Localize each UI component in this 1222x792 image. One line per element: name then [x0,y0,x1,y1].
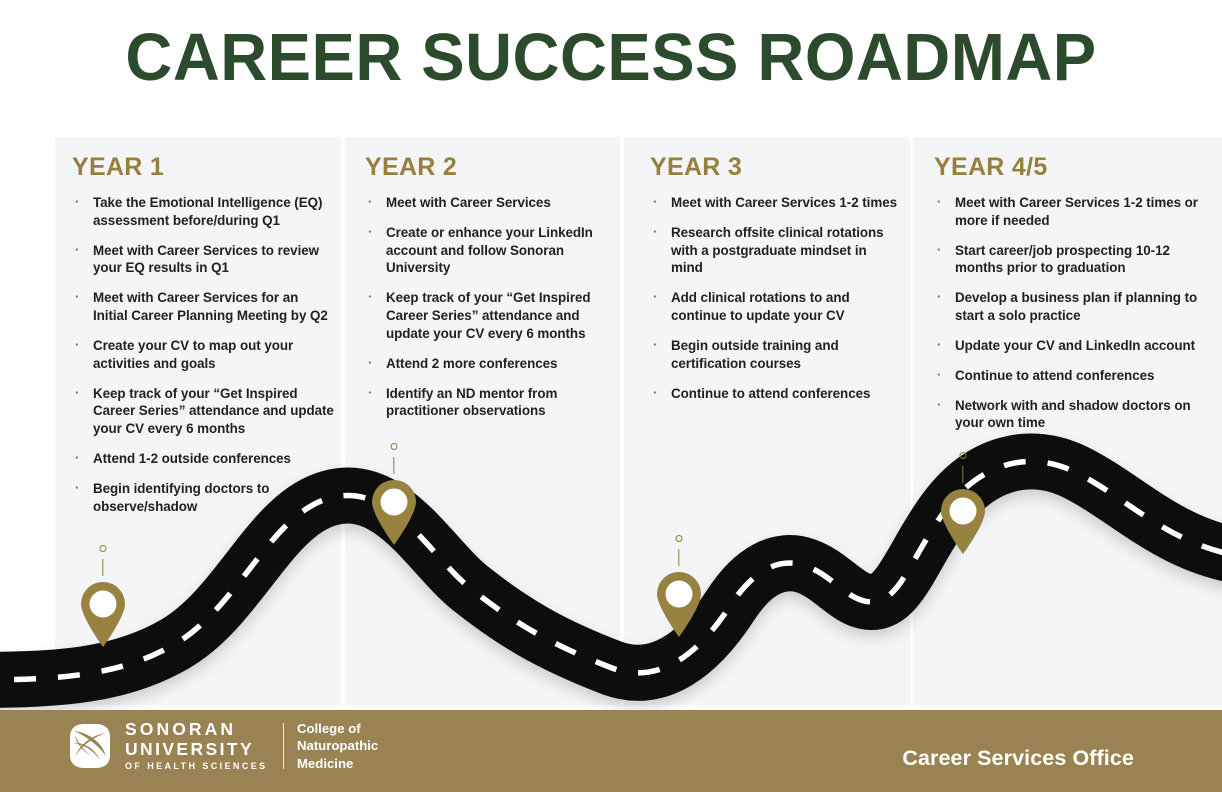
bullet-text: Meet with Career Services for an Initial… [93,290,328,323]
logo-line-sonoran: SONORAN [125,720,268,740]
bullet-item: ·Continue to attend conferences [934,367,1202,385]
pin-stem-icon [393,457,394,474]
bullet-dot-icon: · [937,336,941,353]
column-year-1: YEAR 1 ·Take the Emotional Intelligence … [72,155,334,528]
column-heading-year-2: YEAR 2 [365,155,605,180]
bullet-text: Begin outside training and certification… [671,338,839,371]
bullet-dot-icon: · [653,336,657,353]
bullet-dot-icon: · [75,336,79,353]
bullet-item: ·Meet with Career Services 1-2 times or … [934,194,1202,230]
bullet-dot-icon: · [75,241,79,258]
bullet-list-year-4-5: ·Meet with Career Services 1-2 times or … [934,194,1202,432]
column-year-2: YEAR 2 ·Meet with Career Services·Create… [365,155,605,432]
bullet-text: Meet with Career Services to review your… [93,243,319,276]
logo-line-health-sciences: OF HEALTH SCIENCES [125,760,268,773]
bullet-text: Develop a business plan if planning to s… [955,290,1197,323]
bullet-text: Network with and shadow doctors on your … [955,398,1191,431]
page-title: CAREER SUCCESS ROADMAP [18,24,1203,91]
bullet-dot-icon: · [368,223,372,240]
map-pin-year-1 [80,545,126,655]
bullet-dot-icon: · [368,384,372,401]
footer-department-label: Career Services Office [902,746,1134,771]
bullet-dot-icon: · [368,354,372,371]
column-year-4-5: YEAR 4/5 ·Meet with Career Services 1-2 … [934,155,1202,444]
bullet-item: ·Network with and shadow doctors on your… [934,397,1202,433]
bullet-list-year-2: ·Meet with Career Services·Create or enh… [365,194,605,420]
pin-top-dot-icon [960,452,967,459]
bullet-item: ·Begin identifying doctors to observe/sh… [72,480,334,516]
bullet-item: ·Continue to attend conferences [650,385,900,403]
bullet-item: ·Meet with Career Services 1-2 times [650,194,900,212]
pin-top-dot-icon [100,545,107,552]
bullet-list-year-3: ·Meet with Career Services 1-2 times·Res… [650,194,900,402]
college-name: College of Naturopathic Medicine [297,720,378,772]
bullet-item: ·Keep track of your “Get Inspired Career… [365,289,605,342]
college-line-3: Medicine [297,755,378,772]
bullet-dot-icon: · [75,384,79,401]
bullet-text: Attend 1-2 outside conferences [93,451,291,466]
bullet-text: Keep track of your “Get Inspired Career … [386,290,591,341]
bullet-item: ·Create your CV to map out your activiti… [72,337,334,373]
bullet-item: ·Attend 1-2 outside conferences [72,450,334,468]
bullet-dot-icon: · [937,396,941,413]
bullet-dot-icon: · [937,288,941,305]
bullet-dot-icon: · [75,193,79,210]
bullet-text: Keep track of your “Get Inspired Career … [93,386,334,437]
university-logo: SONORAN UNIVERSITY OF HEALTH SCIENCES Co… [68,720,378,772]
column-heading-year-3: YEAR 3 [650,155,900,180]
column-heading-year-1: YEAR 1 [72,155,334,180]
bullet-dot-icon: · [368,288,372,305]
footer-bar: SONORAN UNIVERSITY OF HEALTH SCIENCES Co… [0,710,1222,792]
infographic-canvas: CAREER SUCCESS ROADMAP [0,0,1222,792]
bullet-dot-icon: · [653,223,657,240]
bullet-dot-icon: · [653,193,657,210]
bullet-item: ·Meet with Career Services [365,194,605,212]
bullet-text: Identify an ND mentor from practitioner … [386,386,557,419]
bullet-text: Meet with Career Services [386,195,551,210]
bullet-text: Meet with Career Services 1-2 times [671,195,897,210]
map-pin-icon [80,581,126,647]
logo-line-university: UNIVERSITY [125,740,268,760]
bullet-item: ·Begin outside training and certificatio… [650,337,900,373]
bullet-item: ·Attend 2 more conferences [365,355,605,373]
map-pin-icon [371,479,417,545]
bullet-dot-icon: · [937,241,941,258]
pin-top-dot-icon [391,443,398,450]
sonoran-shield-logo-icon [68,723,112,769]
bullet-text: Continue to attend conferences [671,386,870,401]
bullet-dot-icon: · [937,366,941,383]
bullet-text: Meet with Career Services 1-2 times or m… [955,195,1198,228]
map-pin-icon [656,571,702,637]
bullet-item: ·Meet with Career Services for an Initia… [72,289,334,325]
bullet-text: Create your CV to map out your activitie… [93,338,293,371]
column-heading-year-4-5: YEAR 4/5 [934,155,1202,180]
pin-stem-icon [102,559,103,576]
bullet-text: Add clinical rotations to and continue t… [671,290,850,323]
bullet-item: ·Keep track of your “Get Inspired Career… [72,385,334,438]
map-pin-icon [940,488,986,554]
bullet-dot-icon: · [653,288,657,305]
bullet-text: Begin identifying doctors to observe/sha… [93,481,269,514]
pin-top-dot-icon [676,535,683,542]
bullet-item: ·Develop a business plan if planning to … [934,289,1202,325]
bullet-text: Take the Emotional Intelligence (EQ) ass… [93,195,322,228]
bullet-item: ·Update your CV and LinkedIn account [934,337,1202,355]
logo-wordmark: SONORAN UNIVERSITY OF HEALTH SCIENCES [125,720,268,772]
bullet-text: Continue to attend conferences [955,368,1154,383]
bullet-text: Attend 2 more conferences [386,356,557,371]
bullet-item: ·Research offsite clinical rotations wit… [650,224,900,277]
college-line-1: College of [297,720,378,737]
bullet-list-year-1: ·Take the Emotional Intelligence (EQ) as… [72,194,334,516]
bullet-dot-icon: · [75,479,79,496]
column-year-3: YEAR 3 ·Meet with Career Services 1-2 ti… [650,155,900,414]
bullet-text: Update your CV and LinkedIn account [955,338,1195,353]
bullet-dot-icon: · [653,384,657,401]
map-pin-year-2 [371,443,417,553]
bullet-text: Research offsite clinical rotations with… [671,225,884,276]
bullet-item: ·Identify an ND mentor from practitioner… [365,385,605,421]
bullet-item: ·Add clinical rotations to and continue … [650,289,900,325]
bullet-item: ·Create or enhance your LinkedIn account… [365,224,605,277]
bullet-text: Start career/job prospecting 10-12 month… [955,243,1170,276]
bullet-dot-icon: · [75,288,79,305]
bullet-item: ·Take the Emotional Intelligence (EQ) as… [72,194,334,230]
bullet-item: ·Start career/job prospecting 10-12 mont… [934,242,1202,278]
bullet-item: ·Meet with Career Services to review you… [72,242,334,278]
pin-stem-icon [678,549,679,566]
college-line-2: Naturopathic [297,737,378,754]
map-pin-year-4-5 [940,452,986,562]
bullet-dot-icon: · [368,193,372,210]
logo-divider [283,723,284,769]
map-pin-year-3 [656,535,702,645]
bullet-dot-icon: · [937,193,941,210]
bullet-text: Create or enhance your LinkedIn account … [386,225,593,276]
pin-stem-icon [962,466,963,483]
bullet-dot-icon: · [75,449,79,466]
